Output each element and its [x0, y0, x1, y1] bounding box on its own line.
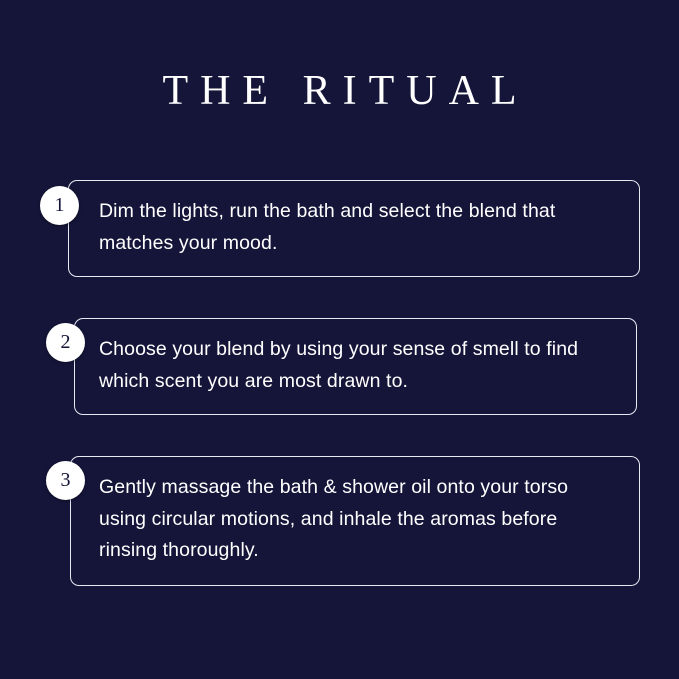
list-item: 2 Choose your blend by using your sense …: [0, 318, 679, 415]
step-box-1: Dim the lights, run the bath and select …: [68, 180, 640, 277]
step-number-badge-1: 1: [40, 186, 79, 225]
steps-list: 1 Dim the lights, run the bath and selec…: [0, 180, 679, 601]
step-box-3: Gently massage the bath & shower oil ont…: [70, 456, 640, 586]
ritual-poster: THE RITUAL 1 Dim the lights, run the bat…: [0, 0, 679, 679]
step-box-2: Choose your blend by using your sense of…: [74, 318, 637, 415]
step-text-3: Gently massage the bath & shower oil ont…: [99, 472, 617, 567]
list-item: 3 Gently massage the bath & shower oil o…: [0, 456, 679, 586]
step-text-2: Choose your blend by using your sense of…: [99, 334, 614, 397]
step-text-1: Dim the lights, run the bath and select …: [99, 196, 617, 259]
page-title: THE RITUAL: [0, 70, 679, 112]
list-item: 1 Dim the lights, run the bath and selec…: [0, 180, 679, 277]
step-number-badge-2: 2: [46, 323, 85, 362]
